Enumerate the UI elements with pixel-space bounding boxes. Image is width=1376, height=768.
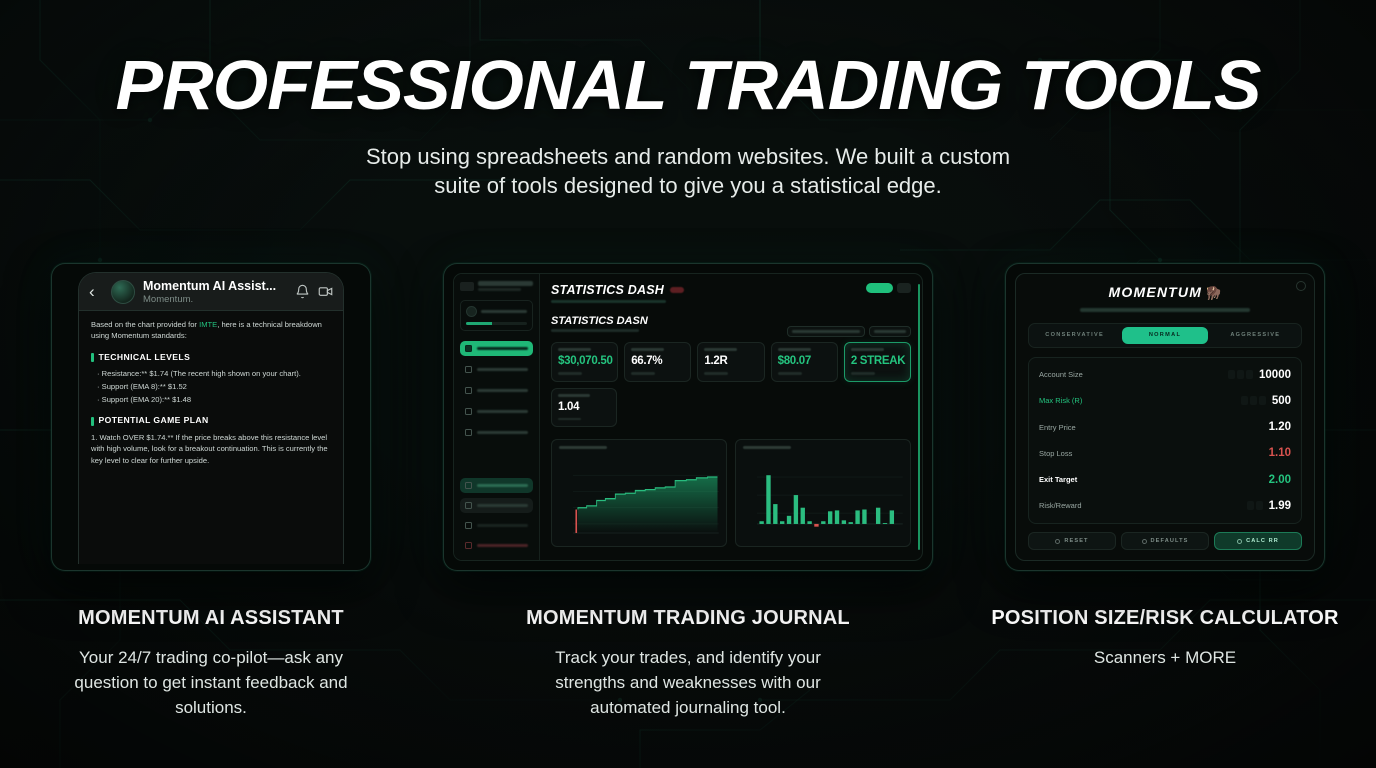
- card-title: MOMENTUM TRADING JOURNAL: [526, 607, 850, 630]
- back-icon[interactable]: ‹: [89, 283, 103, 300]
- search-icon: [465, 408, 472, 415]
- user-card[interactable]: [460, 300, 533, 331]
- feature-cards-row: ‹ Momentum AI Assist... Momentum.: [0, 263, 1376, 720]
- dashboard-header: STATISTICS DASH: [551, 283, 911, 297]
- stat-card[interactable]: $80.07: [771, 342, 838, 382]
- card-description: Scanners + MORE: [1094, 645, 1236, 670]
- plus-icon: [465, 502, 472, 509]
- risk-calculator-screenshot[interactable]: MOMENTUM🦬 CONSERVATIVE NORMAL AGGRESSIVE…: [1005, 263, 1325, 571]
- filter-bar: [787, 326, 911, 337]
- section-marker-icon: [91, 417, 94, 426]
- scrollbar[interactable]: [918, 284, 920, 550]
- dashboard-top-actions: [866, 283, 911, 293]
- sidebar-item-import-trades[interactable]: [460, 383, 533, 398]
- defaults-icon: [1142, 539, 1147, 544]
- section-game-plan: POTENTIAL GAME PLAN: [91, 415, 331, 426]
- stat-value: $30,070.50: [558, 355, 611, 367]
- primary-action-button[interactable]: [866, 283, 893, 293]
- user-icon: [465, 522, 472, 529]
- dashboard-subtitle: [551, 300, 666, 303]
- risk-mode-tabs: CONSERVATIVE NORMAL AGGRESSIVE: [1028, 323, 1302, 348]
- export-button[interactable]: [869, 326, 911, 337]
- reset-button-label: RESET: [1064, 538, 1088, 544]
- note-icon: [465, 429, 472, 436]
- feature-card-trading-journal: STATISTICS DASH STATISTICS DASN: [443, 263, 933, 720]
- field-label: Risk/Reward: [1039, 501, 1082, 510]
- calculator-window: MOMENTUM🦬 CONSERVATIVE NORMAL AGGRESSIVE…: [1015, 273, 1315, 561]
- video-icon[interactable]: [318, 284, 333, 299]
- user-avatar-icon: [466, 306, 477, 317]
- chat-title: Momentum AI Assist...: [143, 279, 287, 293]
- stat-label: [851, 348, 884, 351]
- field-value: 2.00: [1269, 474, 1291, 486]
- upload-icon: [465, 387, 472, 394]
- reset-button[interactable]: RESET: [1028, 532, 1116, 550]
- dashboard-main: STATISTICS DASH STATISTICS DASN: [540, 274, 922, 560]
- page-title: PROFESSIONAL TRADING TOOLS: [0, 48, 1376, 122]
- chat-body: Based on the chart provided for IMTE, he…: [79, 311, 343, 564]
- level-item: · Support (EMA 20):** $1.48: [91, 394, 331, 405]
- dashboard-window: STATISTICS DASH STATISTICS DASN: [453, 273, 923, 561]
- charts-row: [551, 439, 911, 547]
- level-item: · Resistance:** $1.74 (The recent high s…: [91, 368, 331, 379]
- tab-aggressive[interactable]: AGGRESSIVE: [1213, 327, 1298, 344]
- hero-subtitle: Stop using spreadsheets and random websi…: [0, 142, 1376, 200]
- card-description-line3: solutions.: [74, 695, 347, 720]
- card-description: Your 24/7 trading co-pilot—ask any quest…: [74, 645, 347, 720]
- pnl-rules-chart[interactable]: [735, 439, 911, 547]
- stat-value: 2 STREAK: [851, 355, 904, 367]
- level-item: · Support (EMA 8):** $1.52: [91, 381, 331, 392]
- trading-journal-screenshot[interactable]: STATISTICS DASH STATISTICS DASN: [443, 263, 933, 571]
- feature-card-risk-calculator: MOMENTUM🦬 CONSERVATIVE NORMAL AGGRESSIVE…: [1005, 263, 1325, 720]
- card-description-line2: strengths and weaknesses with our: [555, 670, 821, 695]
- chart-icon: [465, 366, 472, 373]
- card-description-line2: question to get instant feedback and: [74, 670, 347, 695]
- card-description: Track your trades, and identify your str…: [555, 645, 821, 720]
- defaults-button-label: DEFAULTS: [1151, 538, 1189, 544]
- field-value: 1.10: [1269, 447, 1291, 459]
- field-value: 500: [1272, 395, 1291, 407]
- field-label: Account Size: [1039, 370, 1083, 379]
- dashboard-sidebar: [454, 274, 540, 560]
- sidebar-nav: [460, 341, 533, 440]
- stat-value: $80.07: [778, 355, 831, 367]
- sidebar-item-overview-dash[interactable]: [460, 341, 533, 356]
- field-row-entry-price[interactable]: Entry Price 1.20: [1039, 421, 1291, 433]
- sidebar-item-statistics-dash[interactable]: [460, 362, 533, 377]
- field-row-exit-target[interactable]: Exit Target 2.00: [1039, 474, 1291, 486]
- ai-assistant-screenshot[interactable]: ‹ Momentum AI Assist... Momentum.: [51, 263, 371, 571]
- field-value: 10000: [1259, 369, 1291, 381]
- chat-title-block: Momentum AI Assist... Momentum.: [143, 279, 287, 305]
- field-label: Exit Target: [1039, 475, 1077, 484]
- stat-label: [778, 348, 811, 351]
- stepper-icon[interactable]: [1247, 501, 1263, 510]
- card-title: MOMENTUM AI ASSISTANT: [78, 607, 344, 630]
- section-subtitle: [551, 329, 639, 332]
- stat-label: [558, 348, 591, 351]
- equity-curve-svg: [558, 468, 720, 542]
- pencil-icon: [465, 482, 472, 489]
- sidebar-item-sign-out[interactable]: [460, 538, 533, 553]
- stat-value: 66.7%: [631, 355, 684, 367]
- secondary-action-button[interactable]: [897, 283, 911, 293]
- chart-title: [743, 446, 791, 449]
- stat-footnote: [704, 372, 728, 375]
- filter-dropdown-timeframe[interactable]: [787, 326, 865, 337]
- stat-label: [704, 348, 737, 351]
- card-description-line1: Track your trades, and identify your: [555, 645, 821, 670]
- chat-header: ‹ Momentum AI Assist... Momentum.: [79, 273, 343, 311]
- calculate-button-label: CALC RR: [1246, 538, 1279, 544]
- game-plan-text: 1. Watch OVER $1.74.** If the price brea…: [91, 432, 331, 466]
- calculator-tagline: [1080, 308, 1250, 312]
- logout-icon: [465, 542, 472, 549]
- hero-section: PROFESSIONAL TRADING TOOLS Stop using sp…: [0, 0, 1376, 200]
- ticker-symbol: IMTE: [199, 320, 217, 329]
- equity-evolution-chart[interactable]: [551, 439, 727, 547]
- field-row-risk-reward[interactable]: Risk/Reward 1.99: [1039, 500, 1291, 512]
- stat-label: [558, 394, 590, 397]
- card-description-line1: Scanners + MORE: [1094, 645, 1236, 670]
- hero-subtitle-line1: Stop using spreadsheets and random websi…: [0, 142, 1376, 171]
- sidebar-item-user-profile[interactable]: [460, 518, 533, 533]
- logo-mark-icon: [460, 282, 474, 291]
- calculator-actions: RESET DEFAULTS CALC RR: [1028, 532, 1302, 550]
- sidebar-item-trading-log[interactable]: [460, 478, 533, 493]
- stat-footnote: [558, 418, 581, 421]
- stat-footnote: [778, 372, 802, 375]
- card-description-line1: Your 24/7 trading co-pilot—ask any: [74, 645, 347, 670]
- stat-card[interactable]: $30,070.50: [551, 342, 618, 382]
- sidebar-footer: [460, 478, 533, 553]
- field-label: Max Risk (R): [1039, 396, 1082, 405]
- hero-subtitle-line2: suite of tools designed to give you a st…: [0, 171, 1376, 200]
- calculate-icon: [1237, 539, 1242, 544]
- stat-card-profit-factor[interactable]: 1.04: [551, 388, 617, 428]
- bell-icon[interactable]: [295, 284, 310, 299]
- calculator-fields: Account Size 10000 Max Risk (R) 500: [1028, 357, 1302, 525]
- bull-icon: 🦬: [1204, 285, 1221, 301]
- reset-icon: [1055, 539, 1060, 544]
- section-technical-levels: TECHNICAL LEVELS: [91, 352, 331, 363]
- chat-intro: Based on the chart provided for IMTE, he…: [91, 319, 331, 342]
- stat-footnote: [851, 372, 875, 375]
- calculator-logo-text: MOMENTUM: [1109, 284, 1203, 300]
- beta-badge: [670, 287, 684, 293]
- usage-progress-bar: [466, 322, 527, 325]
- field-row-account-size[interactable]: Account Size 10000: [1039, 369, 1291, 381]
- calculate-button[interactable]: CALC RR: [1214, 532, 1302, 550]
- grid-icon: [465, 345, 472, 352]
- stat-card[interactable]: 66.7%: [624, 342, 691, 382]
- card-description-line3: automated journaling tool.: [555, 695, 821, 720]
- phone-frame: ‹ Momentum AI Assist... Momentum.: [78, 272, 344, 564]
- pnl-bars-svg: [742, 468, 904, 542]
- section-marker-icon: [91, 353, 94, 362]
- stat-label: [631, 348, 664, 351]
- field-value: 1.20: [1269, 421, 1291, 433]
- calculator-logo: MOMENTUM🦬: [1028, 284, 1302, 301]
- chat-subtitle: Momentum.: [143, 294, 287, 305]
- chat-intro-text: Based on the chart provided for: [91, 320, 199, 329]
- chart-title: [559, 446, 607, 449]
- field-row-stop-loss[interactable]: Stop Loss 1.10: [1039, 447, 1291, 459]
- stepper-icon[interactable]: [1241, 396, 1266, 405]
- stat-value: 1.04: [558, 401, 610, 413]
- stat-footnote: [631, 372, 655, 375]
- defaults-button[interactable]: DEFAULTS: [1121, 532, 1209, 550]
- section-game-plan-label: POTENTIAL GAME PLAN: [99, 415, 209, 426]
- card-title: POSITION SIZE/RISK CALCULATOR: [991, 607, 1338, 630]
- sidebar-item-account-set[interactable]: [460, 498, 533, 513]
- stat-value: 1.2R: [704, 355, 757, 367]
- dashboard-title: STATISTICS DASH: [551, 283, 664, 297]
- page-root: PROFESSIONAL TRADING TOOLS Stop using sp…: [0, 0, 1376, 768]
- field-value: 1.99: [1269, 500, 1291, 512]
- sidebar-item-trade-notes[interactable]: [460, 425, 533, 440]
- stat-card-highlighted[interactable]: 2 STREAK: [844, 342, 911, 382]
- sidebar-item-discovery-tools[interactable]: [460, 404, 533, 419]
- stat-footnote: [558, 372, 582, 375]
- stat-cards-row: $30,070.50 66.7% 1.2R: [551, 342, 911, 382]
- app-logo: [460, 281, 533, 291]
- section-technical-levels-label: TECHNICAL LEVELS: [99, 352, 191, 363]
- tab-normal[interactable]: NORMAL: [1122, 327, 1207, 344]
- field-label: Stop Loss: [1039, 449, 1072, 458]
- field-label: Entry Price: [1039, 423, 1076, 432]
- stat-card[interactable]: 1.2R: [697, 342, 764, 382]
- stepper-icon[interactable]: [1228, 370, 1253, 379]
- tab-conservative[interactable]: CONSERVATIVE: [1032, 327, 1117, 344]
- avatar: [111, 280, 135, 304]
- feature-card-ai-assistant: ‹ Momentum AI Assist... Momentum.: [51, 263, 371, 720]
- field-row-max-risk[interactable]: Max Risk (R) 500: [1039, 395, 1291, 407]
